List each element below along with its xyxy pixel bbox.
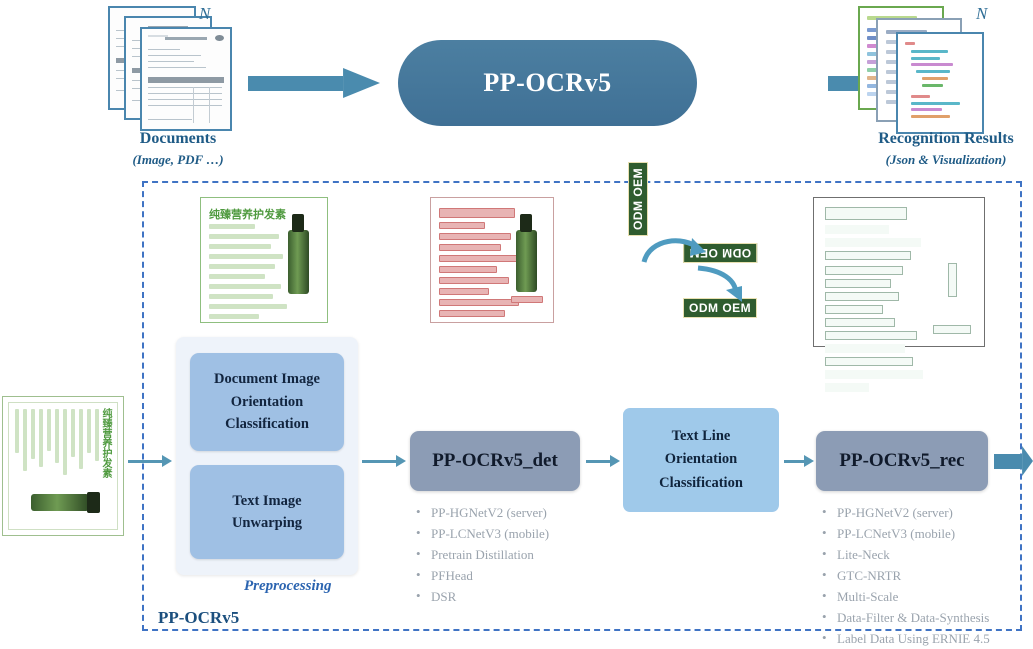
text-line-orientation-classification-box[interactable]: Text Line Orientation Classification bbox=[623, 408, 779, 512]
pipeline-title-box: PP-OCRv5 bbox=[398, 40, 697, 126]
results-label: Recognition Results bbox=[856, 130, 1033, 148]
list-item: GTC-NRTR bbox=[820, 565, 990, 586]
result-sheet-json bbox=[896, 32, 984, 134]
preprocessing-group: Document Image Orientation Classificatio… bbox=[176, 337, 358, 575]
detection-feature-list: PP-HGNetV2 (server) PP-LCNetV3 (mobile) … bbox=[414, 502, 549, 607]
results-stack bbox=[858, 6, 998, 130]
sample-title: 纯臻营养护发素 bbox=[209, 206, 286, 222]
unwarp-line1: Text Image bbox=[232, 490, 301, 512]
arrow-detection-to-textline bbox=[586, 455, 620, 467]
list-item: PP-LCNetV3 (mobile) bbox=[414, 523, 549, 544]
unwarp-line2: Unwarping bbox=[232, 512, 302, 534]
list-item: PP-LCNetV3 (mobile) bbox=[820, 523, 990, 544]
arrow-preprocessing-to-detection bbox=[362, 455, 406, 467]
documents-stack bbox=[108, 6, 238, 130]
documents-label: Documents bbox=[88, 130, 268, 148]
textline-line3: Classification bbox=[659, 472, 743, 495]
list-item: PP-HGNetV2 (server) bbox=[414, 502, 549, 523]
preprocessing-label: Preprocessing bbox=[244, 578, 332, 595]
list-item: PP-HGNetV2 (server) bbox=[820, 502, 990, 523]
doc-orient-line1: Document Image bbox=[214, 368, 320, 390]
list-item: DSR bbox=[414, 586, 549, 607]
textline-line1: Text Line bbox=[672, 425, 731, 448]
list-item: Label Data Using ERNIE 4.5 bbox=[820, 628, 990, 649]
sample-image-recognized bbox=[813, 197, 985, 347]
recognition-feature-list: PP-HGNetV2 (server) PP-LCNetV3 (mobile) … bbox=[820, 502, 990, 649]
doc-orient-line3: Classification bbox=[225, 413, 309, 435]
rotation-arrow-2 bbox=[692, 262, 754, 306]
sample-image-oriented: 纯臻营养护发素 bbox=[200, 197, 328, 323]
document-sheet bbox=[140, 27, 232, 131]
detection-stage-box[interactable]: PP-OCRv5_det bbox=[410, 431, 580, 491]
results-count-badge: N bbox=[976, 4, 987, 24]
document-image-orientation-classification-box[interactable]: Document Image Orientation Classificatio… bbox=[190, 353, 344, 451]
arrow-input-to-preprocessing bbox=[128, 455, 172, 467]
list-item: Multi-Scale bbox=[820, 586, 990, 607]
arrow-textline-to-recognition bbox=[784, 455, 814, 467]
odm-label-vertical: ODM OEM bbox=[628, 162, 648, 236]
pipeline-container-label: PP-OCRv5 bbox=[158, 608, 239, 628]
recognition-stage-box[interactable]: PP-OCRv5_rec bbox=[816, 431, 988, 491]
documents-sublabel: (Image, PDF …) bbox=[88, 152, 268, 168]
sample-image-detected bbox=[430, 197, 554, 323]
documents-count-badge: N bbox=[199, 4, 210, 24]
textline-line2: Orientation bbox=[665, 448, 738, 471]
doc-orient-line2: Orientation bbox=[231, 391, 304, 413]
text-image-unwarping-box[interactable]: Text Image Unwarping bbox=[190, 465, 344, 559]
results-sublabel: (Json & Visualization) bbox=[856, 152, 1033, 168]
arrow-pipeline-output bbox=[994, 446, 1033, 476]
list-item: PFHead bbox=[414, 565, 549, 586]
arrow-documents-to-pipeline bbox=[248, 68, 380, 98]
list-item: Pretrain Distillation bbox=[414, 544, 549, 565]
input-sample-image: 纯臻营养护发素 bbox=[2, 396, 124, 536]
list-item: Data-Filter & Data-Synthesis bbox=[820, 607, 990, 628]
list-item: Lite-Neck bbox=[820, 544, 990, 565]
